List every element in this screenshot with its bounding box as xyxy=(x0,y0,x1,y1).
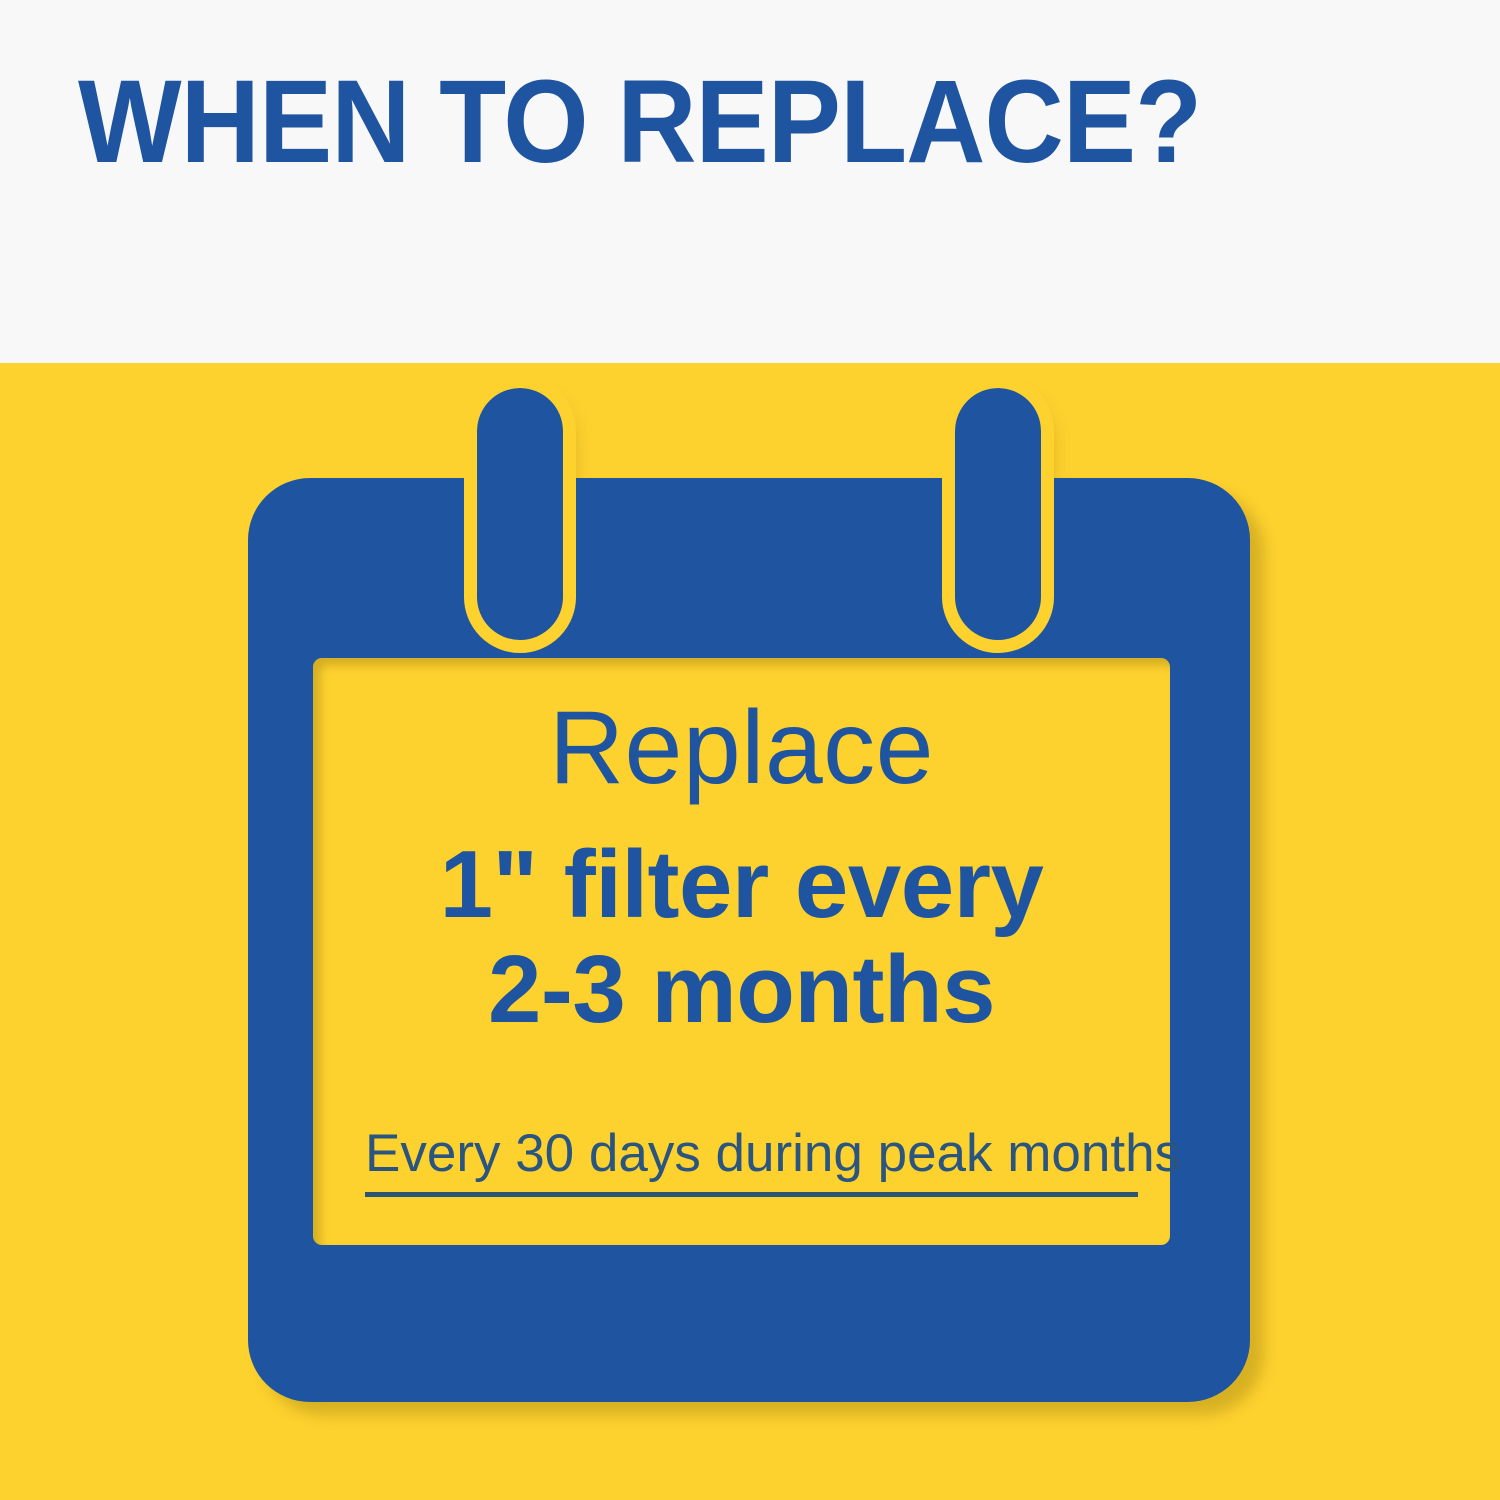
infographic-canvas: WHEN TO REPLACE? Replace 1" filter every… xyxy=(0,0,1500,1500)
calendar-page: Replace 1" filter every 2-3 months Every… xyxy=(313,658,1170,1245)
calendar-icon: Replace 1" filter every 2-3 months Every… xyxy=(248,388,1250,1402)
replacement-interval-headline: 1" filter every 2-3 months xyxy=(440,832,1044,1042)
peak-months-note-text: Every 30 days during peak months xyxy=(365,1125,1138,1183)
peak-months-note: Every 30 days during peak months xyxy=(365,1125,1138,1197)
headline-line-1: 1" filter every xyxy=(440,832,1044,937)
header-band: WHEN TO REPLACE? xyxy=(0,0,1500,363)
headline-line-2: 2-3 months xyxy=(440,937,1044,1042)
page-title: WHEN TO REPLACE? xyxy=(78,62,1201,182)
replace-eyebrow-label: Replace xyxy=(549,692,934,804)
peak-months-note-underline xyxy=(365,1192,1138,1197)
